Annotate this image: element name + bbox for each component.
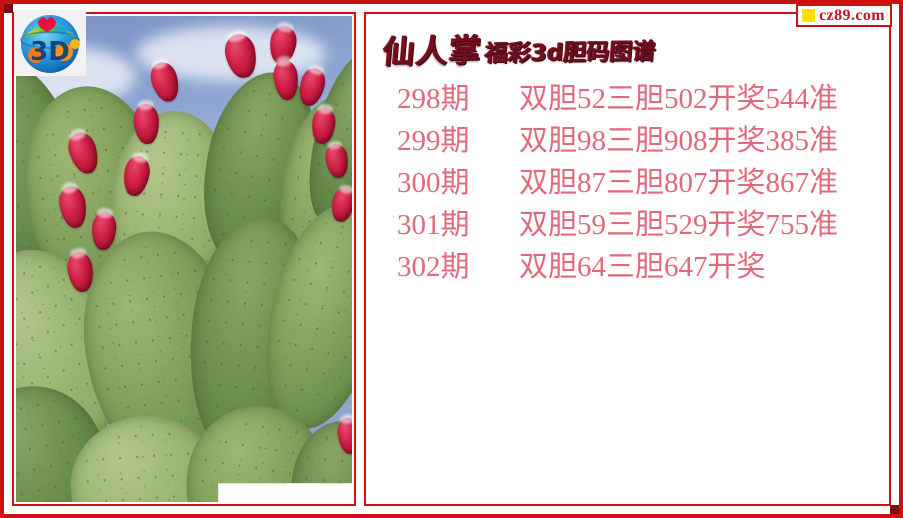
list-item: 302期 双胆64三胆647开奖 <box>369 243 886 285</box>
cactus-photo-image <box>16 16 352 502</box>
lottery-3d-ball-logo: 3D <box>14 10 86 76</box>
list-item: 300期 双胆87三胆807开奖867准 <box>369 159 886 201</box>
page-title: 仙人掌 福彩3d胆码图谱 <box>383 25 655 67</box>
prediction-list: 298期 双胆52三胆502开奖544准 299期 双胆98三胆908开奖385… <box>369 75 886 285</box>
yellow-square-icon <box>802 9 815 22</box>
page-title-subtitle: 福彩3d胆码图谱 <box>484 41 657 68</box>
list-item: 299期 双胆98三胆908开奖385准 <box>369 117 886 159</box>
issue-number: 299期 <box>397 117 501 159</box>
prediction-text: 双胆87三胆807开奖867准 <box>519 159 838 201</box>
issue-number: 300期 <box>397 159 501 201</box>
issue-number: 298期 <box>397 75 501 117</box>
corner-accent-bottom-right <box>890 505 899 514</box>
issue-number: 301期 <box>397 201 501 243</box>
list-item: 298期 双胆52三胆502开奖544准 <box>369 75 886 117</box>
prediction-text: 双胆52三胆502开奖544准 <box>519 75 838 117</box>
photo-blank-overlay-box <box>218 483 352 502</box>
page-title-main: 仙人掌 <box>382 34 484 68</box>
site-badge-label: cz89.com <box>819 8 885 24</box>
prediction-text: 双胆64三胆647开奖 <box>519 243 766 285</box>
prediction-text: 双胆98三胆908开奖385准 <box>519 117 838 159</box>
svg-text:3D: 3D <box>30 37 70 67</box>
list-item: 301期 双胆59三胆529开奖755准 <box>369 201 886 243</box>
site-badge[interactable]: cz89.com <box>796 4 892 27</box>
photo-panel <box>12 12 356 506</box>
page-root: 3D 仙人掌 福彩3d胆码图谱 298期 双胆52三胆502开奖544准 299… <box>0 0 903 518</box>
prediction-panel-inner: 仙人掌 福彩3d胆码图谱 298期 双胆52三胆502开奖544准 299期 双… <box>369 17 886 501</box>
prediction-panel: 仙人掌 福彩3d胆码图谱 298期 双胆52三胆502开奖544准 299期 双… <box>364 12 891 506</box>
prediction-text: 双胆59三胆529开奖755准 <box>519 201 838 243</box>
issue-number: 302期 <box>397 243 501 285</box>
